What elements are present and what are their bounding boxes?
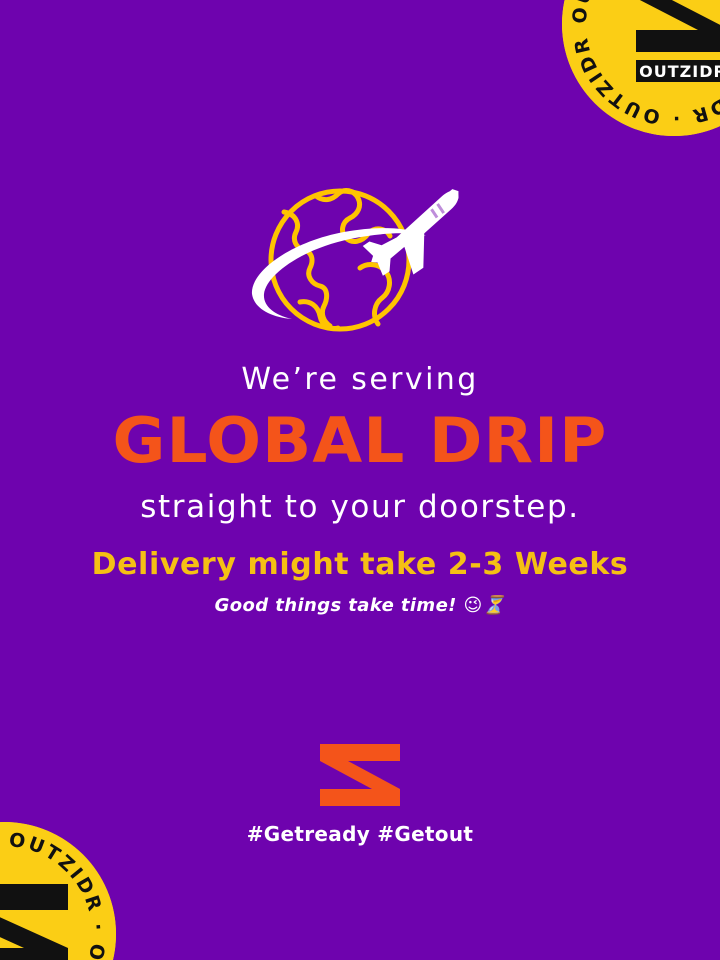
- delivery-reassurance-text: Good things take time! 😉⏳: [20, 595, 700, 617]
- brand-badge-top-right: OUTZIDR · OUTZIDR · OUTZIDR · OUTZIDR · …: [562, 0, 720, 136]
- hero-illustration: [0, 176, 720, 346]
- headline-text: GLOBAL DRIP: [11, 409, 710, 472]
- outzidr-z-logo: [320, 744, 400, 806]
- delivery-notice-block: Delivery might take 2-3 Weeks Good thing…: [0, 548, 720, 616]
- kicker-text: We’re serving: [24, 362, 696, 397]
- delivery-time-text: Delivery might take 2-3 Weeks: [20, 548, 700, 583]
- headline-block: We’re serving GLOBAL DRIP straight to yo…: [0, 362, 720, 526]
- svg-text:OUTZIDR: OUTZIDR: [639, 62, 720, 81]
- footer-lockup: #Getready #Getout: [0, 744, 720, 846]
- subline-text: straight to your doorstep.: [24, 489, 696, 526]
- hashtags-text: #Getready #Getout: [247, 822, 473, 846]
